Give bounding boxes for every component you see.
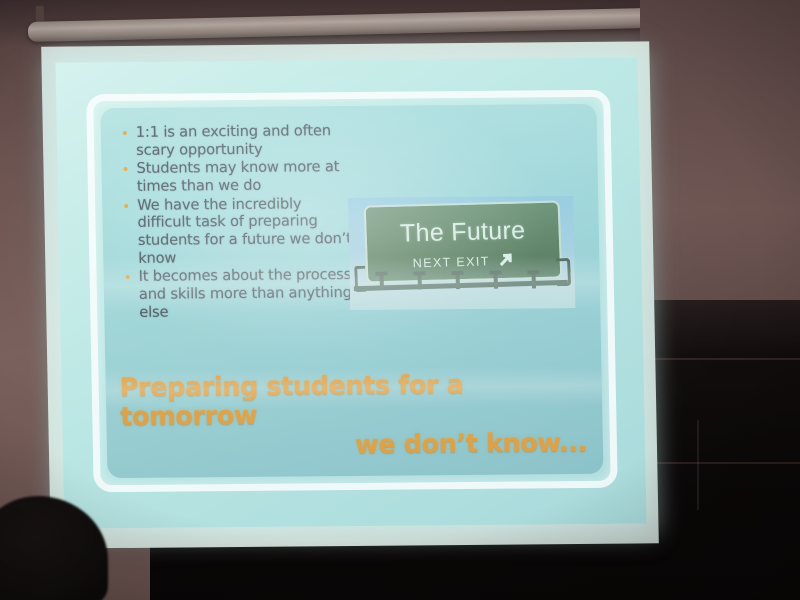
projection-screen: 1:1 is an exciting and often scary oppor…: [41, 41, 659, 548]
road-sign-subtitle: NEXT EXIT: [413, 254, 490, 270]
road-sign-subtitle-row: NEXT EXIT: [367, 250, 560, 272]
sign-support-post: [417, 273, 422, 289]
list-item: 1:1 is an exciting and often scary oppor…: [121, 122, 354, 159]
sign-support-post: [493, 273, 498, 289]
list-item: It becomes about the process and skills …: [123, 266, 356, 321]
sign-left-bracket: [354, 266, 366, 292]
sign-support-post: [455, 273, 460, 289]
headline-line-1: Preparing students for a tomorrow: [119, 370, 586, 433]
dark-area-line: [697, 420, 699, 510]
slide-content-panel: 1:1 is an exciting and often scary oppor…: [100, 104, 603, 478]
sign-support-post: [531, 272, 536, 288]
highway-exit-sign-photo: The Future NEXT EXIT: [348, 196, 575, 310]
list-item: Students may know more at times than we …: [121, 158, 354, 195]
sign-support-post: [379, 274, 384, 290]
screenshot-stage: 1:1 is an exciting and often scary oppor…: [0, 0, 800, 600]
headline-line-2: we don’t know...: [121, 429, 588, 462]
projected-slide: 1:1 is an exciting and often scary oppor…: [55, 57, 646, 528]
list-item: We have the incredibly difficult task of…: [122, 195, 355, 268]
sign-right-bracket: [556, 258, 571, 286]
bullet-list: 1:1 is an exciting and often scary oppor…: [121, 122, 357, 322]
arrow-up-right-icon: [497, 252, 515, 269]
road-sign-title: The Future: [366, 216, 559, 250]
slide-headline: Preparing students for a tomorrow we don…: [119, 370, 587, 462]
